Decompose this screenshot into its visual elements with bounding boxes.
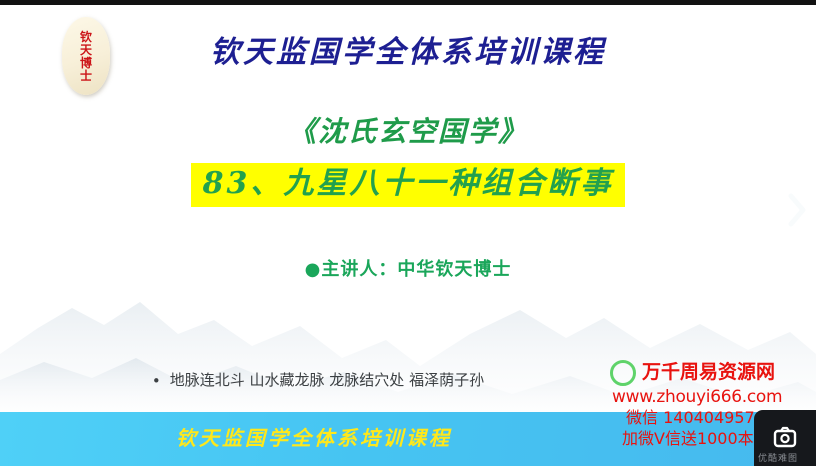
presentation-slide: 钦 天 博 士 钦天监国学全体系培训课程 《沈氏玄空国学》 83、九星八十一种组… xyxy=(0,5,816,466)
top-letterbox-strip xyxy=(0,0,816,5)
watermark-site-name: 万千周易资源网 xyxy=(642,363,775,383)
verse-text: 地脉连北斗 山水藏龙脉 龙脉结穴处 福泽荫子孙 xyxy=(170,371,484,389)
watermark-url: www.zhouyi666.com xyxy=(610,387,812,408)
seal-char-2: 天 xyxy=(80,44,92,56)
seal-char-1: 钦 xyxy=(80,31,92,43)
watermark-site-row: 万千周易资源网 xyxy=(610,360,812,386)
slide-screenshot: 钦 天 博 士 钦天监国学全体系培训课程 《沈氏玄空国学》 83、九星八十一种组… xyxy=(0,0,816,466)
lesson-title-row: 83、九星八十一种组合断事 xyxy=(0,163,816,207)
bullet-marker: • xyxy=(152,372,161,390)
slide-subtitle: 《沈氏玄空国学》 xyxy=(0,110,816,150)
seal-char-4: 士 xyxy=(80,70,92,82)
camera-icon xyxy=(772,426,798,450)
presenter-line: ●主讲人：中华钦天博士 xyxy=(0,255,816,281)
chevron-right-icon[interactable] xyxy=(784,190,810,230)
green-circle-icon xyxy=(610,360,636,386)
screenshot-button-caption: 优酷难图 xyxy=(742,451,814,464)
brand-seal-logo: 钦 天 博 士 xyxy=(62,17,110,95)
slide-headline: 钦天监国学全体系培训课程 xyxy=(0,27,816,71)
lesson-title-highlighted: 83、九星八十一种组合断事 xyxy=(191,163,626,207)
seal-char-3: 博 xyxy=(80,57,92,69)
